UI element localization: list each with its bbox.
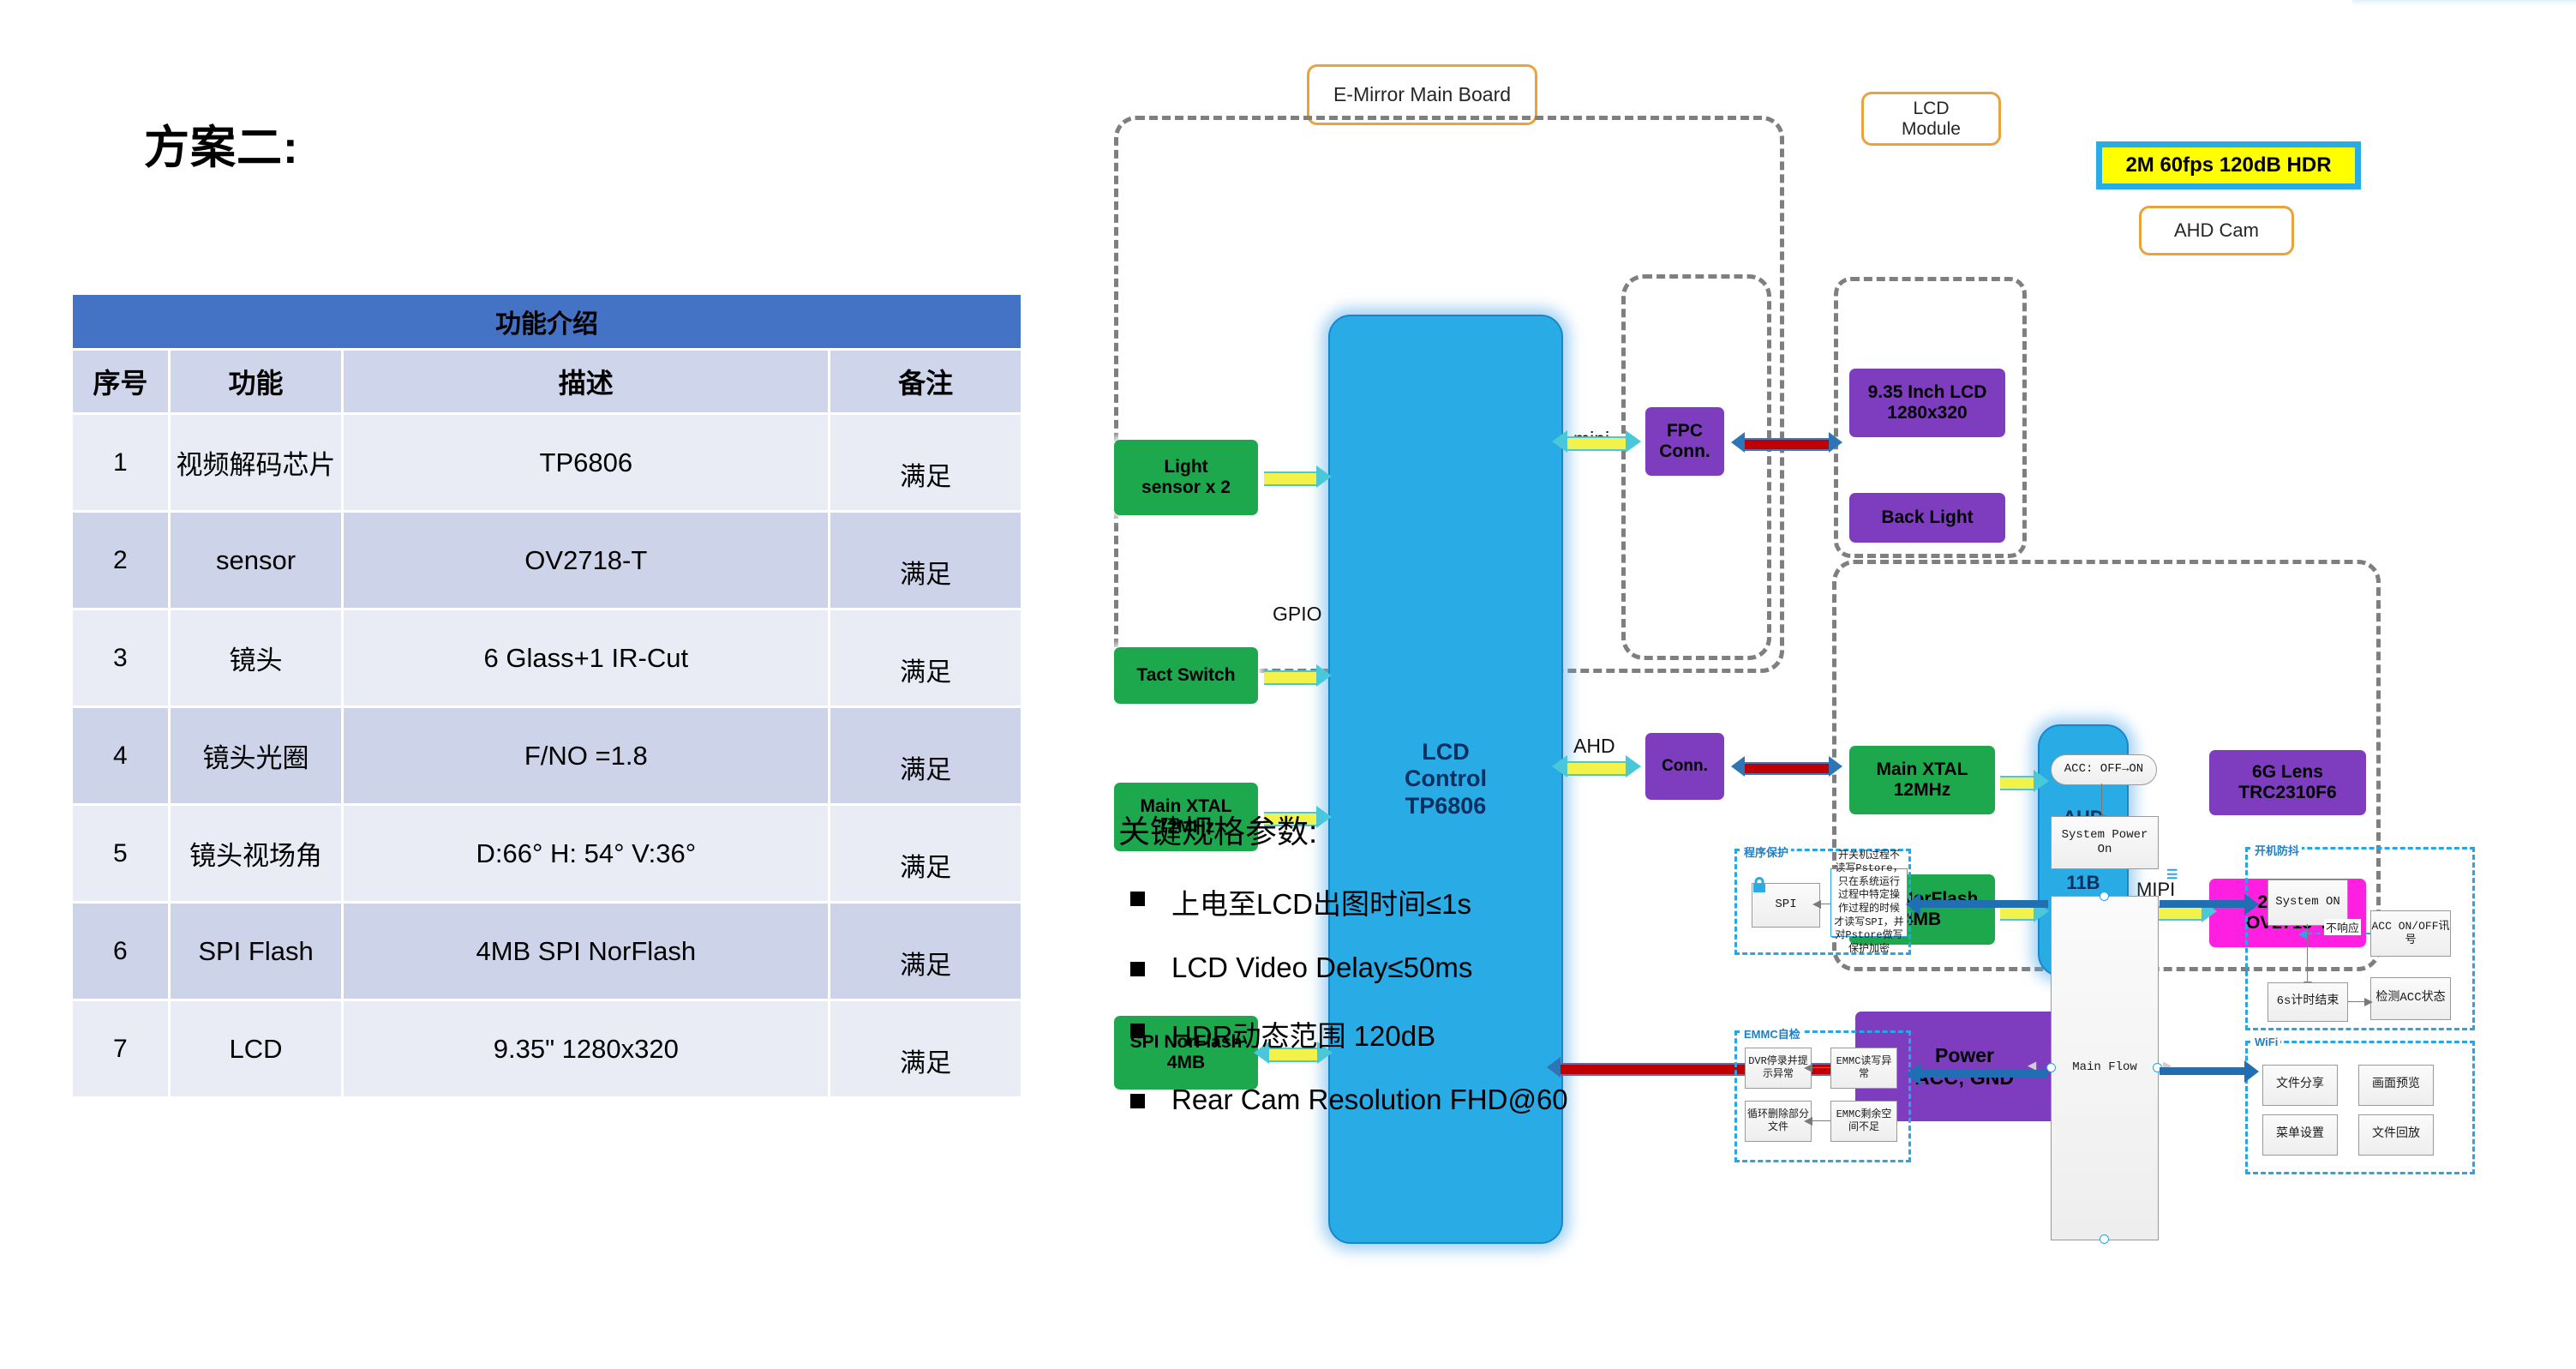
- cell-index: 5: [73, 806, 168, 901]
- cell-function: 镜头视场角: [171, 806, 341, 901]
- cell-description: F/NO =1.8: [344, 708, 828, 803]
- label-gpio: GPIO: [1273, 603, 1322, 626]
- arrow-light-to-mcu: [1264, 471, 1317, 486]
- flow-arrow-note-spi: [1820, 904, 1830, 904]
- cell-remark: 满足: [830, 415, 1021, 510]
- table-header-2: 描述: [344, 351, 828, 412]
- table-row: 4镜头光圈F/NO =1.8满足: [73, 708, 1021, 803]
- system-block-diagram: E-Mirror Main Board LCD Module AHD Cam 2…: [1114, 64, 2451, 716]
- table-header-0: 序号: [73, 351, 168, 412]
- cell-description: TP6806: [344, 415, 828, 510]
- flow-blue-arrow-emmc: [1920, 1070, 2048, 1078]
- backlight-block: Back Light: [1849, 493, 2005, 543]
- table-header-1: 功能: [171, 351, 341, 412]
- flow-arrow-system-timer: [2307, 924, 2308, 982]
- cell-description: 6 Glass+1 IR-Cut: [344, 610, 828, 706]
- flow-arrow-space-loop: [1812, 1120, 1830, 1121]
- arrow-tact-to-mcu: [1264, 670, 1317, 685]
- arrow-ahd-bus: [1567, 761, 1626, 776]
- caption-ahd-cam: AHD Cam: [2139, 206, 2294, 255]
- flow-arrow-start-power: [2101, 784, 2102, 816]
- label-ahd: AHD: [1573, 735, 1615, 758]
- arrow-mipi-bus: [1567, 436, 1626, 451]
- table-row: 5镜头视场角D:66° H: 54° V:36°满足: [73, 806, 1021, 901]
- cell-function: SPI Flash: [171, 904, 341, 999]
- flow-main-node: Main Flow: [2051, 896, 2159, 1240]
- cell-index: 1: [73, 415, 168, 510]
- wifi-node-0: 文件分享: [2262, 1065, 2338, 1106]
- cell-remark: 满足: [830, 513, 1021, 608]
- group-label-boot-debounce: 开机防抖: [2252, 842, 2302, 858]
- flow-loop-delete-node: 循环删除部分文件: [1745, 1101, 1812, 1142]
- cell-description: OV2718-T: [344, 513, 828, 608]
- lock-icon: [1751, 877, 1768, 893]
- flow-blue-arrow-pp: [1920, 900, 2048, 908]
- cell-index: 2: [73, 513, 168, 608]
- flow-dvr-stop-node: DVR停录并提示异常: [1745, 1048, 1812, 1089]
- cell-index: 6: [73, 904, 168, 999]
- table-title-row: 功能介绍: [73, 295, 1021, 348]
- cell-remark: 满足: [830, 1001, 1021, 1096]
- key-spec-item: LCD Video Delay≤50ms: [1118, 952, 1568, 984]
- cell-function: 镜头光圈: [171, 708, 341, 803]
- flow-acc-signal-node: ACC ON/OFF讯号: [2370, 910, 2451, 957]
- spec-table: 功能介绍序号功能描述备注1视频解码芯片TP6806满足2sensorOV2718…: [70, 292, 1023, 1099]
- flow-blue-arrow-wifi: [2160, 1067, 2245, 1075]
- flow-detect-acc-node: 检测ACC状态: [2370, 977, 2451, 1020]
- lcd-panel-block: 9.35 Inch LCD 1280x320: [1849, 369, 2005, 437]
- key-spec-list: 上电至LCD出图时间≤1sLCD Video Delay≤50msHDR动态范围…: [1118, 881, 1568, 1116]
- table-row: 2sensorOV2718-T满足: [73, 513, 1021, 608]
- flow-label-no-response: 不响应: [2324, 919, 2361, 935]
- table-header-3: 备注: [830, 351, 1021, 412]
- cell-function: LCD: [171, 1001, 341, 1096]
- flow-arrow-emmcrw-dvr: [1812, 1067, 1830, 1068]
- ahd-connector: Conn.: [1645, 733, 1724, 800]
- arrow-fpc-to-lcd: [1744, 438, 1830, 451]
- cell-remark: 满足: [830, 806, 1021, 901]
- hdr-badge: 2M 60fps 120dB HDR: [2096, 141, 2361, 189]
- key-spec-item: Rear Cam Resolution FHD@60: [1118, 1084, 1568, 1116]
- cell-index: 3: [73, 610, 168, 706]
- wifi-node-1: 画面预览: [2358, 1065, 2434, 1106]
- flow-handle-top: [2100, 892, 2109, 901]
- cell-index: 7: [73, 1001, 168, 1096]
- fpc-connector: FPC Conn.: [1645, 407, 1724, 476]
- key-spec-item: HDR动态范围 120dB: [1118, 1013, 1568, 1054]
- cell-description: D:66° H: 54° V:36°: [344, 806, 828, 901]
- flow-timer-end-node: 6s计时结束: [2267, 982, 2348, 1022]
- flow-arrow-timer-detect: [2348, 1001, 2365, 1002]
- flow-handle-bottom: [2100, 1234, 2109, 1244]
- wifi-node-3: 文件回放: [2358, 1114, 2434, 1156]
- cell-description: 9.35" 1280x320: [344, 1001, 828, 1096]
- key-spec-title: 关键规格参数:: [1118, 806, 1568, 852]
- flow-emmc-rw-node: EMMC读写异常: [1830, 1048, 1897, 1089]
- cell-description: 4MB SPI NorFlash: [344, 904, 828, 999]
- table-title-cell: 功能介绍: [73, 295, 1021, 348]
- flow-menu-icon: ☰: [2166, 872, 2177, 880]
- input-light-sensor: Light sensor x 2: [1114, 440, 1258, 515]
- cell-remark: 满足: [830, 610, 1021, 706]
- input-tact-switch: Tact Switch: [1114, 647, 1258, 704]
- key-spec-item: 上电至LCD出图时间≤1s: [1118, 881, 1568, 922]
- top-edge-artifact: [2352, 0, 2576, 6]
- caption-lcd-module: LCD Module: [1861, 92, 2001, 146]
- table-header-row: 序号功能描述备注: [73, 351, 1021, 412]
- page-title: 方案二:: [144, 111, 299, 177]
- table-row: 6SPI Flash4MB SPI NorFlash满足: [73, 904, 1021, 999]
- cell-index: 4: [73, 708, 168, 803]
- cell-remark: 满足: [830, 904, 1021, 999]
- table-row: 3镜头6 Glass+1 IR-Cut满足: [73, 610, 1021, 706]
- cell-function: 镜头: [171, 610, 341, 706]
- flow-emmc-space-node: EMMC剩余空间不足: [1830, 1101, 1897, 1142]
- wifi-node-2: 菜单设置: [2262, 1114, 2338, 1156]
- cell-function: 视频解码芯片: [171, 415, 341, 510]
- group-label-program-protect: 程序保护: [1741, 844, 1791, 860]
- group-label-wifi: WiFi: [2252, 1036, 2280, 1048]
- flow-power-on-node: System Power On: [2051, 816, 2159, 869]
- flow-start-node: ACC: OFF→ON: [2051, 754, 2157, 785]
- system-flowchart: ACC: OFF→ON System Power On ☰ Main Flow …: [1714, 754, 2571, 1303]
- cell-function: sensor: [171, 513, 341, 608]
- group-label-emmc-check: EMMC自检: [1741, 1025, 1803, 1042]
- flow-pstore-note: 开关机过程不读写Pstore，只在系统运行过程中特定操作过程的时候才读写SPI，…: [1830, 868, 1908, 937]
- key-spec-section: 关键规格参数: 上电至LCD出图时间≤1sLCD Video Delay≤50m…: [1118, 806, 1568, 1145]
- cell-remark: 满足: [830, 708, 1021, 803]
- table-row: 1视频解码芯片TP6806满足: [73, 415, 1021, 510]
- table-row: 7LCD9.35" 1280x320满足: [73, 1001, 1021, 1096]
- flow-blue-arrow-boot: [2160, 900, 2245, 908]
